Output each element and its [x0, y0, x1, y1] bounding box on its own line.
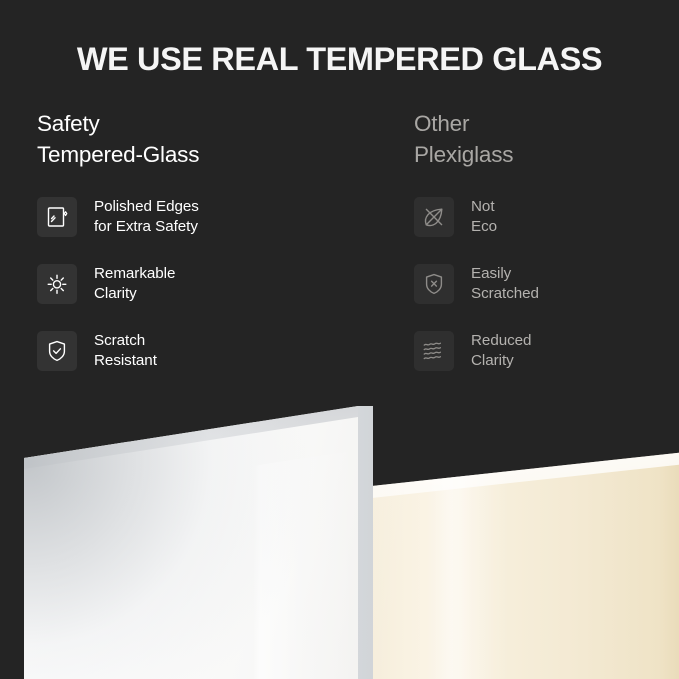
comparison-infographic: WE USE REAL TEMPERED GLASS Safety Temper… [0, 0, 679, 679]
feature-label: Remarkable Clarity [94, 264, 175, 304]
shield-x-icon [414, 264, 454, 304]
shield-check-icon [37, 331, 77, 371]
comparison-columns: Safety Tempered-Glass Polished Edges for… [0, 108, 679, 398]
page-title: WE USE REAL TEMPERED GLASS [0, 42, 679, 78]
tempered-glass-panel [20, 398, 373, 679]
feature-row-easily-scratched: Easily Scratched [414, 261, 679, 307]
feature-row-scratch-resistant: Scratch Resistant [37, 328, 337, 374]
product-photo [0, 398, 679, 679]
leaf-crossed-out-icon [414, 197, 454, 237]
wavy-lines-icon [414, 331, 454, 371]
feature-row-polished-edges: Polished Edges for Extra Safety [37, 194, 337, 240]
feature-label: Reduced Clarity [471, 331, 531, 371]
feature-row-reduced-clarity: Reduced Clarity [414, 328, 679, 374]
feature-label: Polished Edges for Extra Safety [94, 197, 199, 237]
column-other-plexiglass: Other Plexiglass Not Eco [414, 108, 679, 374]
sun-brightness-icon [37, 264, 77, 304]
column-title: Other Plexiglass [414, 108, 679, 170]
feature-row-remarkable-clarity: Remarkable Clarity [37, 261, 337, 307]
polished-edge-sparkle-icon [37, 197, 77, 237]
feature-label: Easily Scratched [471, 264, 539, 304]
feature-label: Scratch Resistant [94, 331, 157, 371]
column-safety-tempered-glass: Safety Tempered-Glass Polished Edges for… [37, 108, 337, 374]
plexiglass-panel [346, 426, 679, 679]
feature-row-not-eco: Not Eco [414, 194, 679, 240]
feature-label: Not Eco [471, 197, 497, 237]
column-title: Safety Tempered-Glass [37, 108, 337, 170]
